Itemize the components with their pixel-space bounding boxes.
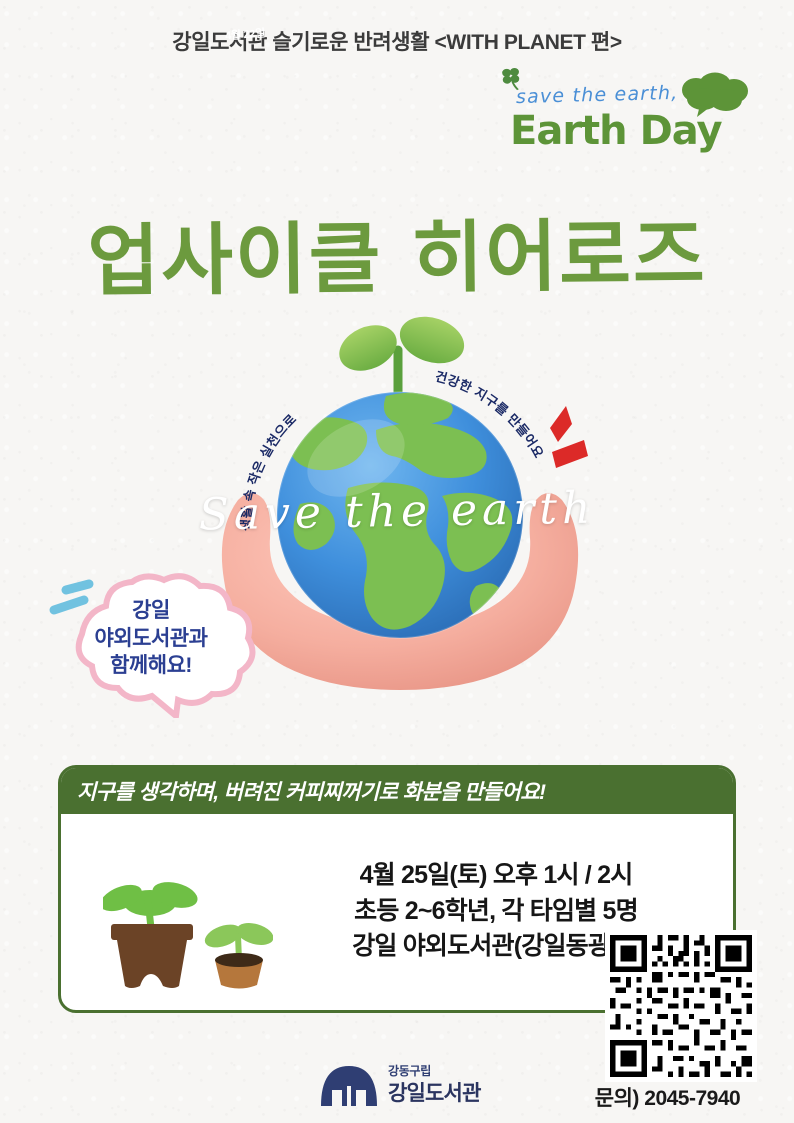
main-title: 업사이클 히어로즈 xyxy=(0,192,794,312)
library-logo: 강동구립 강일도서관 xyxy=(318,1058,488,1114)
cloud-line-2: 야외도서관과 xyxy=(56,625,246,653)
info-detail-0: 4월 25일(토) 오후 1시 / 2시 xyxy=(301,858,691,894)
cloud-line-3: 함께해요! xyxy=(56,652,246,680)
save-the-earth-script: save the earth, xyxy=(516,82,679,108)
qr-code-icon[interactable] xyxy=(605,930,757,1082)
info-detail-1: 초등 2~6학년, 각 타임별 5명 xyxy=(301,894,691,930)
logo-name: 강일도서관 xyxy=(388,1077,481,1107)
earth-day-block: save the earth, Earth Day xyxy=(470,60,770,170)
cloud-bubble-text: 강일 야외도서관과 함께해요! xyxy=(56,597,246,680)
cloud-line-1: 강일 xyxy=(56,597,246,625)
library-arch-logo-icon xyxy=(318,1060,380,1106)
page-title: 강일도서관 슬기로운 반려생활 <WITH PLANET 편> xyxy=(0,26,794,56)
date-bubble-shape xyxy=(678,72,752,118)
info-headline: 지구를 생각하며, 버려진 커피찌꺼기로 화분을 만들어요! xyxy=(61,768,733,814)
plant-pot-icon xyxy=(103,870,273,990)
contact-phone: 문의) 2045-7940 xyxy=(560,1082,775,1112)
red-accent-strokes-icon xyxy=(550,406,588,468)
